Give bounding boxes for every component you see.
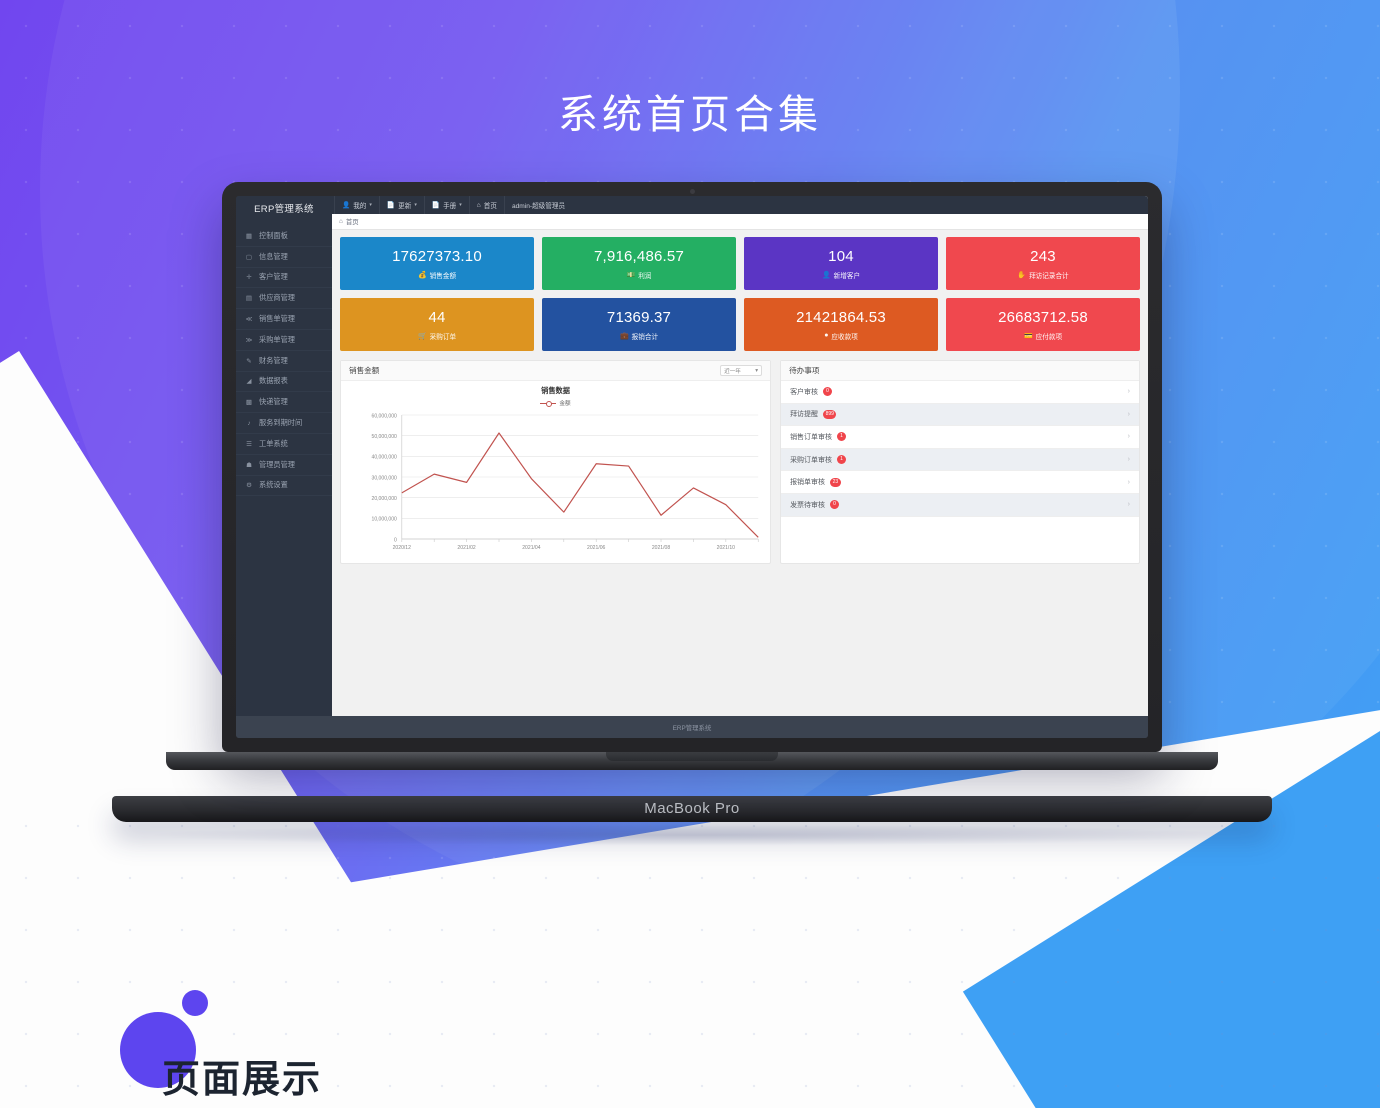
report-icon: ◢ bbox=[245, 377, 253, 385]
svg-text:50,000,000: 50,000,000 bbox=[372, 434, 398, 440]
todo-label: 客户审核 bbox=[790, 387, 818, 397]
bell-icon: ♪ bbox=[245, 420, 253, 427]
kpi-card-payables[interactable]: 26683712.58 💳 应付款项 bbox=[946, 298, 1140, 351]
webcam-icon bbox=[690, 189, 695, 194]
ticket-icon: ☰ bbox=[245, 440, 253, 448]
kpi-card-purchase-orders[interactable]: 44 🛒 采购订单 bbox=[340, 298, 534, 351]
todo-label: 报销单审核 bbox=[790, 477, 825, 487]
sidebar-item-label: 销售单管理 bbox=[259, 314, 295, 324]
sidebar-item-dashboard[interactable]: ▦ 控制面板 bbox=[236, 226, 332, 247]
sidebar-item-label: 采购单管理 bbox=[259, 335, 295, 345]
kpi-label-row: 💳 应付款项 bbox=[1024, 331, 1062, 341]
decor-circle-small bbox=[182, 990, 208, 1016]
sidebar-item-report[interactable]: ◢ 数据报表 bbox=[236, 372, 332, 393]
profit-icon: 💵 bbox=[627, 271, 636, 279]
sidebar-menu: ▦ 控制面板 ▢ 信息管理 ✛ 客户管理 bbox=[236, 220, 332, 496]
list-item[interactable]: 拜访提醒 899 › bbox=[781, 404, 1139, 427]
home-icon: ⌂ bbox=[477, 202, 481, 209]
erp-application: ERP管理系统 ▦ 控制面板 ▢ 信息管理 ✛ bbox=[236, 196, 1148, 716]
sidebar-item-purchase[interactable]: ≫ 采购单管理 bbox=[236, 330, 332, 351]
kpi-label-row: 💼 报销合计 bbox=[620, 331, 658, 341]
kpi-label-row: 🛒 采购订单 bbox=[418, 331, 456, 341]
svg-text:2021/04: 2021/04 bbox=[522, 545, 540, 551]
todo-panel: 待办事项 客户审核 0 › bbox=[780, 360, 1140, 564]
sidebar-item-label: 系统设置 bbox=[259, 480, 288, 490]
laptop-notch bbox=[606, 752, 778, 761]
nav-item-label: 首页 bbox=[484, 200, 497, 210]
dashboard-panels: 销售金额 近一年 ▾ 销售数据 bbox=[340, 360, 1140, 564]
svg-text:2021/08: 2021/08 bbox=[652, 545, 670, 551]
kpi-value: 71369.37 bbox=[607, 309, 671, 326]
kpi-value: 26683712.58 bbox=[998, 309, 1088, 326]
kpi-card-sales-amount[interactable]: 17627373.10 💰 销售金额 bbox=[340, 237, 534, 290]
todo-left: 采购订单审核 1 bbox=[790, 455, 846, 465]
sidebar-item-sales[interactable]: ≪ 销售单管理 bbox=[236, 309, 332, 330]
sidebar-item-label: 信息管理 bbox=[259, 252, 288, 262]
kpi-card-visit-records[interactable]: 243 ✋ 拜访记录合计 bbox=[946, 237, 1140, 290]
sidebar-item-label: 服务到期时间 bbox=[259, 418, 302, 428]
todo-label: 发票待审核 bbox=[790, 500, 825, 510]
laptop-screen: ERP管理系统 ▦ 控制面板 ▢ 信息管理 ✛ bbox=[236, 196, 1148, 738]
poster-stage: 系统首页合集 ERP管理系统 ▦ 控制面板 ▢ bbox=[0, 0, 1380, 1108]
chevron-right-icon: › bbox=[1128, 433, 1130, 440]
chart-title: 销售数据 bbox=[345, 386, 766, 396]
receivable-icon: ● bbox=[824, 332, 828, 339]
sidebar-item-express[interactable]: ▩ 快递管理 bbox=[236, 392, 332, 413]
page-title: 系统首页合集 bbox=[0, 82, 1380, 140]
date-range-select[interactable]: 近一年 ▾ bbox=[720, 365, 762, 376]
sidebar-item-label: 快递管理 bbox=[259, 397, 288, 407]
nav-item-label: admin-超级管理员 bbox=[512, 200, 565, 210]
sidebar-item-label: 客户管理 bbox=[259, 272, 288, 282]
laptop-lid: ERP管理系统 ▦ 控制面板 ▢ 信息管理 ✛ bbox=[222, 182, 1162, 752]
sidebar-item-label: 控制面板 bbox=[259, 231, 288, 241]
purchase-icon: ≫ bbox=[245, 336, 253, 344]
todo-left: 销售订单审核 1 bbox=[790, 432, 846, 442]
svg-text:20,000,000: 20,000,000 bbox=[372, 496, 398, 502]
wallet-icon: 💼 bbox=[620, 332, 629, 340]
kpi-card-profit[interactable]: 7,916,486.57 💵 利润 bbox=[542, 237, 736, 290]
legend-label: 金额 bbox=[559, 399, 570, 407]
chevron-right-icon: › bbox=[1128, 411, 1130, 418]
chevron-right-icon: › bbox=[1128, 456, 1130, 463]
date-range-value: 近一年 bbox=[724, 367, 741, 375]
sidebar-item-label: 管理员管理 bbox=[259, 460, 295, 470]
nav-item-home[interactable]: ⌂ 首页 bbox=[470, 196, 505, 214]
sidebar-item-label: 供应商管理 bbox=[259, 293, 295, 303]
breadcrumb-label: 首页 bbox=[346, 217, 359, 226]
cart-icon: 🛒 bbox=[418, 332, 427, 340]
status-badge: 23 bbox=[830, 478, 841, 487]
kpi-value: 7,916,486.57 bbox=[594, 248, 684, 265]
svg-text:2021/02: 2021/02 bbox=[457, 545, 475, 551]
sidebar-item-finance[interactable]: ✎ 财务管理 bbox=[236, 351, 332, 372]
sidebar: ERP管理系统 ▦ 控制面板 ▢ 信息管理 ✛ bbox=[236, 196, 332, 716]
file-icon: 📄 bbox=[432, 201, 440, 209]
breadcrumb: ⌂ 首页 bbox=[332, 214, 1148, 230]
sales-icon: ≪ bbox=[245, 315, 253, 323]
laptop-mockup: ERP管理系统 ▦ 控制面板 ▢ 信息管理 ✛ bbox=[222, 182, 1162, 818]
svg-text:10,000,000: 10,000,000 bbox=[372, 517, 398, 523]
svg-text:30,000,000: 30,000,000 bbox=[372, 475, 398, 481]
user-icon: 👤 bbox=[342, 201, 350, 209]
svg-text:60,000,000: 60,000,000 bbox=[372, 413, 398, 419]
dashboard-icon: ▦ bbox=[245, 232, 253, 240]
kpi-label: 新增客户 bbox=[834, 270, 860, 280]
todo-left: 客户审核 0 bbox=[790, 387, 832, 397]
kpi-card-grid: 17627373.10 💰 销售金额 7,916,486.57 bbox=[340, 237, 1140, 351]
sidebar-item-service-expiry[interactable]: ♪ 服务到期时间 bbox=[236, 413, 332, 434]
svg-text:0: 0 bbox=[394, 537, 397, 543]
svg-text:2020/12: 2020/12 bbox=[393, 545, 411, 551]
chevron-right-icon: › bbox=[1128, 501, 1130, 508]
brand-caption: 页面展示 bbox=[162, 1048, 322, 1103]
todo-left: 发票待审核 0 bbox=[790, 500, 839, 510]
supplier-icon: ▤ bbox=[245, 294, 253, 302]
laptop-shadow bbox=[142, 824, 1242, 846]
todo-left: 报销单审核 23 bbox=[790, 477, 841, 487]
kpi-card-reimbursement-total[interactable]: 71369.37 💼 报销合计 bbox=[542, 298, 736, 351]
chevron-down-icon: ▾ bbox=[755, 368, 758, 374]
kpi-value: 21421864.53 bbox=[796, 309, 886, 326]
kpi-value: 44 bbox=[428, 309, 445, 326]
nav-item-mine[interactable]: 👤 我的 ▾ bbox=[334, 196, 380, 214]
info-icon: ▢ bbox=[245, 253, 253, 261]
sidebar-item-info[interactable]: ▢ 信息管理 bbox=[236, 247, 332, 268]
sidebar-brand: ERP管理系统 bbox=[236, 196, 332, 220]
status-badge: 1 bbox=[837, 432, 846, 441]
kpi-label-row: 💵 利润 bbox=[627, 270, 652, 280]
sidebar-item-admin[interactable]: ☗ 管理员管理 bbox=[236, 455, 332, 476]
list-item[interactable]: 发票待审核 0 › bbox=[781, 494, 1139, 517]
kpi-label: 利润 bbox=[638, 270, 651, 280]
screen-footer: ERP管理系统 bbox=[236, 716, 1148, 738]
money-icon: 💰 bbox=[418, 271, 427, 279]
top-navbar: 👤 我的 ▾ 📄 更新 ▾ 📄 手册 bbox=[332, 196, 1148, 214]
payable-icon: 💳 bbox=[1024, 332, 1033, 340]
sidebar-item-supplier[interactable]: ▤ 供应商管理 bbox=[236, 288, 332, 309]
kpi-label-row: 💰 销售金额 bbox=[418, 270, 456, 280]
nav-item-label: 更新 bbox=[398, 200, 411, 210]
kpi-label: 应付款项 bbox=[1036, 331, 1062, 341]
kpi-label-row: 👤 新增客户 bbox=[822, 270, 860, 280]
nav-item-label: 我的 bbox=[353, 200, 366, 210]
todo-panel-header: 待办事项 bbox=[781, 361, 1139, 381]
kpi-card-receivables[interactable]: 21421864.53 ● 应收款项 bbox=[744, 298, 938, 351]
laptop-hinge bbox=[166, 752, 1218, 770]
chart-legend[interactable]: 金额 bbox=[345, 399, 766, 407]
kpi-label: 报销合计 bbox=[632, 331, 658, 341]
kpi-value: 104 bbox=[828, 248, 854, 265]
sales-chart-panel: 销售金额 近一年 ▾ 销售数据 bbox=[340, 360, 771, 564]
kpi-label-row: ✋ 拜访记录合计 bbox=[1017, 270, 1068, 280]
todo-label: 销售订单审核 bbox=[790, 432, 832, 442]
legend-marker-icon bbox=[540, 400, 556, 406]
kpi-card-new-customers[interactable]: 104 👤 新增客户 bbox=[744, 237, 938, 290]
status-badge: 899 bbox=[823, 410, 836, 419]
sales-chart-panel-header: 销售金额 近一年 ▾ bbox=[341, 361, 770, 381]
admin-icon: ☗ bbox=[245, 461, 253, 469]
todo-left: 拜访提醒 899 bbox=[790, 409, 836, 419]
visit-icon: ✋ bbox=[1017, 271, 1026, 279]
dashboard-body: 17627373.10 💰 销售金额 7,916,486.57 bbox=[332, 230, 1148, 716]
sales-line-chart: 010,000,00020,000,00030,000,00040,000,00… bbox=[345, 409, 766, 559]
svg-text:2021/10: 2021/10 bbox=[717, 545, 735, 551]
finance-icon: ✎ bbox=[245, 357, 253, 365]
content-area: 👤 我的 ▾ 📄 更新 ▾ 📄 手册 bbox=[332, 196, 1148, 716]
user-plus-icon: 👤 bbox=[822, 271, 831, 279]
list-item[interactable]: 采购订单审核 1 › bbox=[781, 449, 1139, 472]
list-item[interactable]: 报销单审核 23 › bbox=[781, 471, 1139, 494]
kpi-label: 拜访记录合计 bbox=[1029, 270, 1069, 280]
chevron-down-icon: ▾ bbox=[414, 202, 417, 208]
kpi-label: 采购订单 bbox=[430, 331, 456, 341]
sidebar-item-customer[interactable]: ✛ 客户管理 bbox=[236, 268, 332, 289]
todo-label: 采购订单审核 bbox=[790, 455, 832, 465]
kpi-label: 销售金额 bbox=[430, 270, 456, 280]
todo-list: 客户审核 0 › 拜访提醒 899 bbox=[781, 381, 1139, 517]
nav-item-updates[interactable]: 📄 更新 ▾ bbox=[380, 196, 425, 214]
laptop-model-label: MacBook Pro bbox=[644, 800, 740, 817]
sidebar-item-label: 数据报表 bbox=[259, 376, 288, 386]
chart-container: 销售数据 金额 010,000,00020,000,00030,000,0004… bbox=[341, 381, 770, 563]
svg-text:2021/06: 2021/06 bbox=[587, 545, 605, 551]
kpi-value: 243 bbox=[1030, 248, 1056, 265]
panel-title: 待办事项 bbox=[789, 365, 819, 376]
chevron-right-icon: › bbox=[1128, 479, 1130, 486]
status-badge: 1 bbox=[837, 455, 846, 464]
kpi-value: 17627373.10 bbox=[392, 248, 482, 265]
nav-item-account[interactable]: admin-超级管理员 bbox=[505, 196, 572, 214]
status-badge: 0 bbox=[823, 387, 832, 396]
sidebar-item-settings[interactable]: ⚙ 系统设置 bbox=[236, 476, 332, 497]
chevron-down-icon: ▾ bbox=[459, 202, 462, 208]
sidebar-item-ticket[interactable]: ☰ 工单系统 bbox=[236, 434, 332, 455]
nav-item-label: 手册 bbox=[443, 200, 456, 210]
home-icon: ⌂ bbox=[339, 218, 343, 225]
todo-label: 拜访提醒 bbox=[790, 409, 818, 419]
sidebar-item-label: 财务管理 bbox=[259, 356, 288, 366]
chevron-down-icon: ▾ bbox=[369, 202, 372, 208]
express-icon: ▩ bbox=[245, 398, 253, 406]
kpi-label: 应收款项 bbox=[831, 331, 857, 341]
file-icon: 📄 bbox=[387, 201, 395, 209]
list-item[interactable]: 销售订单审核 1 › bbox=[781, 426, 1139, 449]
kpi-label-row: ● 应收款项 bbox=[824, 331, 858, 341]
customer-icon: ✛ bbox=[245, 273, 253, 281]
svg-text:40,000,000: 40,000,000 bbox=[372, 455, 398, 461]
nav-item-manual[interactable]: 📄 手册 ▾ bbox=[425, 196, 470, 214]
sidebar-item-label: 工单系统 bbox=[259, 439, 288, 449]
status-badge: 0 bbox=[830, 500, 839, 509]
chevron-right-icon: › bbox=[1128, 388, 1130, 395]
panel-title: 销售金额 bbox=[349, 365, 379, 376]
settings-icon: ⚙ bbox=[245, 481, 253, 489]
list-item[interactable]: 客户审核 0 › bbox=[781, 381, 1139, 404]
